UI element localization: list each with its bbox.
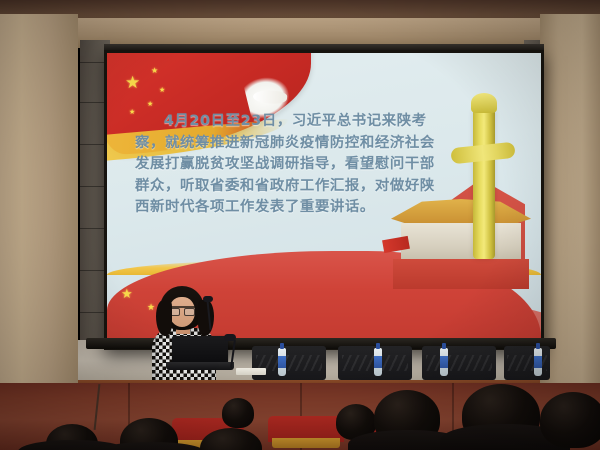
star-icon: ★ bbox=[147, 101, 153, 108]
speaker-hair-left bbox=[156, 300, 172, 336]
laptop-screen bbox=[172, 336, 228, 364]
huabiao-wing bbox=[450, 142, 515, 165]
gate-body bbox=[401, 223, 521, 263]
chair bbox=[504, 346, 550, 380]
glasses-icon bbox=[169, 306, 195, 312]
documents bbox=[236, 368, 266, 375]
ceiling-edge bbox=[0, 0, 600, 20]
water-bottle bbox=[374, 348, 382, 376]
gate-base bbox=[393, 259, 529, 289]
star-icon: ★ bbox=[159, 87, 165, 94]
microphone-head bbox=[224, 334, 236, 341]
left-pillar bbox=[0, 14, 78, 414]
conference-hall-photo: ★ ★ ★ ★ ★ 4月20日至23日，习近平总书记来陕考察，就统筹推进新冠肺炎… bbox=[0, 0, 600, 450]
huabiao-cap bbox=[471, 93, 497, 113]
gate-roof bbox=[391, 199, 531, 225]
laptop-base bbox=[166, 362, 234, 370]
audience-head bbox=[540, 392, 600, 448]
star-icon: ★ bbox=[121, 288, 133, 301]
star-icon: ★ bbox=[125, 75, 140, 92]
chair bbox=[422, 346, 496, 380]
seat-trim bbox=[272, 438, 340, 448]
microphone-head bbox=[203, 296, 213, 302]
water-bottle bbox=[534, 348, 542, 376]
water-bottle bbox=[440, 348, 448, 376]
huabiao-column-icon bbox=[473, 109, 495, 259]
audience-head bbox=[222, 398, 254, 428]
star-icon: ★ bbox=[151, 67, 158, 75]
water-bottle bbox=[278, 348, 286, 376]
